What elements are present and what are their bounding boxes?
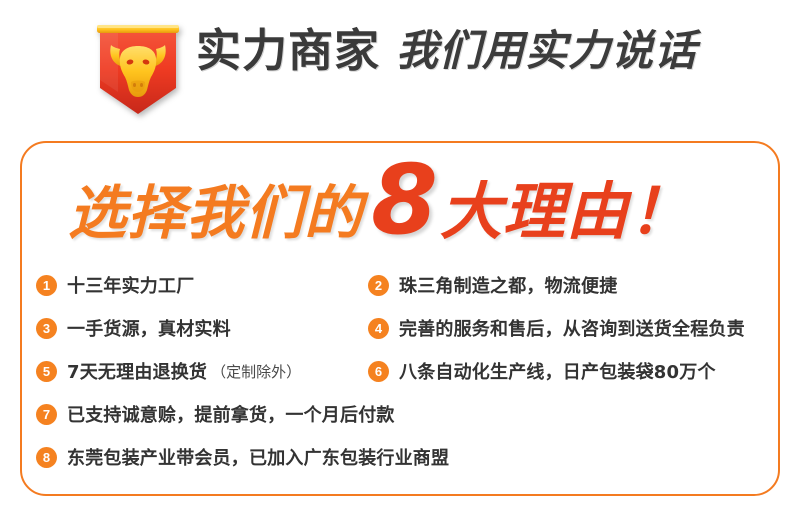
item-note: （定制除外） [211,361,301,382]
item-number-badge: 4 [368,318,389,339]
item-label: 已支持诚意赊，提前拿货，一个月后付款 [67,401,395,427]
brand-slogan: 我们用实力说话 [396,26,697,75]
item-number-badge: 5 [36,361,57,382]
item-number-badge: 6 [368,361,389,382]
list-item: 7 已支持诚意赊，提前拿货，一个月后付款 [36,401,399,427]
list-item: 6 八条自动化生产线，日产包装袋80万个 [368,358,720,384]
list-item: 1 十三年实力工厂 [36,272,198,298]
item-label: 珠三角制造之都，物流便捷 [399,272,617,298]
list-item: 4 完善的服务和售后，从咨询到送货全程负责 [368,315,749,341]
item-number-badge: 8 [36,447,57,468]
reasons-list: 1 十三年实力工厂 2 珠三角制造之都，物流便捷 3 一手货源，真材实料 4 完… [0,272,800,487]
item-label: 完善的服务和售后，从咨询到送货全程负责 [399,315,745,341]
item-number-badge: 3 [36,318,57,339]
item-number-badge: 7 [36,404,57,425]
list-item: 2 珠三角制造之都，物流便捷 [368,272,621,298]
list-item: 5 7天无理由退换货 （定制除外） [36,358,301,384]
item-number-badge: 1 [36,275,57,296]
item-number-badge: 2 [368,275,389,296]
list-item: 8 东莞包装产业带会员，已加入广东包装行业商盟 [36,444,453,470]
brand-lockup: 实力商家我们用实力说话 [196,28,697,73]
item-label: 八条自动化生产线，日产包装袋80万个 [399,358,716,384]
title-number: 8 [371,144,438,256]
item-label: 东莞包装产业带会员，已加入广东包装行业商盟 [67,444,449,470]
item-label: 十三年实力工厂 [67,272,194,298]
title-prefix: 选择我们的 [68,179,363,247]
item-label: 7天无理由退换货 [67,358,207,384]
list-item: 3 一手货源，真材实料 [36,315,235,341]
header-banner: 实力商家我们用实力说话 [0,0,800,130]
brand-name: 实力商家 [196,24,380,77]
title-suffix: 大理由！ [440,175,692,248]
page-title: 选择我们的8大理由！ [0,152,760,248]
item-label: 一手货源，真材实料 [67,315,231,341]
bull-head-shield-icon [88,18,188,118]
shield-svg [88,18,188,118]
